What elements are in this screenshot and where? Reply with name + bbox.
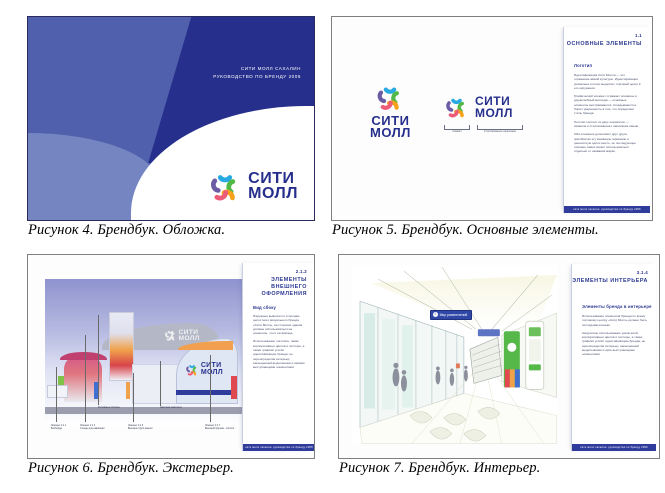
caliper-wordmark-label: Стилизованное написание xyxy=(477,130,523,133)
billboard-left xyxy=(47,385,68,399)
body-paragraph: Использование элементов бренда по всему … xyxy=(582,314,647,327)
citymall-star-icon xyxy=(164,329,177,342)
callout-leader xyxy=(85,335,86,422)
figure-4-image: СИТИ МОЛЛ САХАЛИН РУКОВОДСТВО ПО БРЕНДУ … xyxy=(27,16,315,221)
page-subtitle: Элементы бренда в интерьере xyxy=(582,304,652,309)
callout-line1: Цветовая навигация xyxy=(160,407,182,410)
page-subtitle: Вид сбоку xyxy=(253,305,276,310)
page-body: Наружные вывески по сторонам целостного … xyxy=(253,314,306,374)
page-title: ЭЛЕМЕНТЫ ВНЕШНЕГО ОФОРМЛЕНИЯ xyxy=(243,277,307,298)
pylon-red xyxy=(231,376,236,399)
cover-title-line2: РУКОВОДСТВО ПО БРЕНДУ 2006 xyxy=(213,73,301,81)
arch-base-band xyxy=(176,390,235,394)
cover-title-line1: СИТИ МОЛЛ САХАЛИН xyxy=(213,65,301,73)
roof-sign-lockup: СИТИ МОЛЛ xyxy=(164,329,200,342)
page-footer: сити молл сахалин. руководство по бренду… xyxy=(564,206,650,213)
pylon-orange xyxy=(126,382,130,400)
figure-4-caption: Рисунок 4. Брендбук. Обложка. xyxy=(28,222,225,239)
body-paragraph: Наружные вывески по сторонам целостного … xyxy=(253,314,306,335)
cover-wordmark: СИТИ МОЛЛ xyxy=(248,172,298,201)
brandbook-right-page: 3.1.4 ЭЛЕМЕНТЫ ИНТЕРЬЕРА Элементы бренда… xyxy=(571,264,656,451)
citymall-star-icon xyxy=(375,83,405,113)
body-paragraph: Оба элемента дополняют друг друга, приоб… xyxy=(574,132,641,153)
citymall-star-icon xyxy=(208,170,242,204)
callout-line2: Стенды для навигации xyxy=(80,428,104,431)
arch-wordmark-line2: МОЛЛ xyxy=(201,370,223,376)
arch-sign-lockup: СИТИ МОЛЛ xyxy=(185,363,223,377)
page-title-line1: ЭЛЕМЕНТЫ ВНЕШНЕГО xyxy=(243,277,307,291)
callout-label: Элемент 2.1.1 Билборды xyxy=(51,425,66,431)
callout-leader xyxy=(133,373,134,422)
interior-perspective-sketch xyxy=(352,265,557,444)
callout-label: Элемент 2.1.4 Стенды для навигации xyxy=(80,425,104,431)
logo-variant-horizontal: СИТИ МОЛЛ xyxy=(444,95,513,120)
figure-7-image: i Мир развлечений 3.1.4 ЭЛЕМЕНТЫ ИНТЕРЬЕ… xyxy=(338,254,660,459)
roof-wordmark: СИТИ МОЛЛ xyxy=(179,330,200,342)
citymall-star-icon xyxy=(444,95,469,120)
callout-line2: Внешний признак - логотип xyxy=(205,428,234,431)
callout-line2: Билборды xyxy=(51,428,66,431)
arch-wordmark: СИТИ МОЛЛ xyxy=(201,363,223,376)
wordmark-line2: МОЛЛ xyxy=(370,127,411,139)
callout-leader xyxy=(160,361,161,406)
callout-label: Рекламные порталы xyxy=(98,407,120,410)
body-paragraph: Графический элемент отражает основное и … xyxy=(574,94,641,115)
glass-tower xyxy=(109,312,134,381)
body-paragraph: Использование логотипа, также корпоратив… xyxy=(253,339,306,369)
page-footer: сити молл сахалин. руководство по бренду… xyxy=(243,444,315,451)
page-number: 1.1 xyxy=(635,33,642,38)
brandbook-cover: СИТИ МОЛЛ САХАЛИН РУКОВОДСТВО ПО БРЕНДУ … xyxy=(28,17,314,220)
caliper-symbol: Символ xyxy=(444,125,470,135)
wordmark-line2: МОЛЛ xyxy=(475,108,513,119)
callout-label: Элемент 2.1.7. Внешний признак - логотип xyxy=(205,425,234,431)
brandbook-right-page: 2.1.2 ЭЛЕМЕНТЫ ВНЕШНЕГО ОФОРМЛЕНИЯ Вид с… xyxy=(242,263,315,451)
figure-7-caption: Рисунок 7. Брендбук. Интерьер. xyxy=(339,460,540,477)
page-body: Использование элементов бренда по всему … xyxy=(582,314,647,361)
ground-strip xyxy=(45,407,257,414)
page-number: 3.1.4 xyxy=(637,270,648,275)
caliper-symbol-label: Символ xyxy=(444,130,470,133)
callout-label: Цветовая навигация xyxy=(160,407,182,410)
roof-wordmark-line2: МОЛЛ xyxy=(179,336,200,342)
cover-logo-lockup: СИТИ МОЛЛ xyxy=(208,170,298,204)
callout-line1: Рекламные порталы xyxy=(98,407,120,410)
page-subtitle: Логотип xyxy=(574,63,592,68)
body-paragraph: Идентификация Сити Молла — это отражение… xyxy=(574,73,641,90)
callout-line2: Внешние групп-панели xyxy=(128,428,153,431)
callout-leader xyxy=(56,367,57,422)
callout-leader xyxy=(98,315,99,405)
page-title: ОСНОВНЫЕ ЭЛЕМЕНТЫ xyxy=(567,41,642,48)
page-title-line2: ОФОРМЛЕНИЯ xyxy=(243,291,307,298)
page-footer: сити молл сахалин. руководство по бренду… xyxy=(572,444,656,451)
logo-wordmark: СИТИ МОЛЛ xyxy=(370,115,411,139)
page-title: ЭЛЕМЕНТЫ ИНТЕРЬЕРА xyxy=(572,278,648,285)
exterior-rendering: СИТИ МОЛЛ xyxy=(45,279,257,425)
brandbook-right-page: 1.1 ОСНОВНЫЕ ЭЛЕМЕНТЫ Логотип Идентифика… xyxy=(563,27,650,213)
figure-5-caption: Рисунок 5. Брендбук. Основные элементы. xyxy=(332,222,599,239)
figure-5-image: СИТИ МОЛЛ СИТИ МОЛЛ Символ Ст xyxy=(331,16,653,221)
page-number: 2.1.2 xyxy=(296,269,307,274)
callout-label: Элемент 2.1.6 Внешние групп-панели xyxy=(128,425,153,431)
cover-wordmark-line2: МОЛЛ xyxy=(248,187,298,202)
wayfinding-sign-label: Мир развлечений xyxy=(440,313,468,317)
wayfinding-sign: i Мир развлечений xyxy=(430,310,473,320)
logo-wordmark: СИТИ МОЛЛ xyxy=(475,96,513,118)
info-icon: i xyxy=(433,312,438,317)
body-paragraph: Логотип состоит из двух элементов — симв… xyxy=(574,120,641,129)
logo-variant-vertical: СИТИ МОЛЛ xyxy=(370,83,411,139)
cover-titles: СИТИ МОЛЛ САХАЛИН РУКОВОДСТВО ПО БРЕНДУ … xyxy=(213,65,301,81)
figure-6-image: СИТИ МОЛЛ xyxy=(27,254,315,459)
body-paragraph: Аккуратное использование указателей, кор… xyxy=(582,331,647,357)
citymall-star-icon xyxy=(185,363,199,377)
figure-6-caption: Рисунок 6. Брендбук. Экстерьер. xyxy=(28,460,234,477)
callout-leader xyxy=(210,355,211,422)
central-block xyxy=(132,364,181,404)
interior-rendering: i Мир развлечений xyxy=(352,265,557,444)
caliper-wordmark: Стилизованное написание xyxy=(477,125,523,135)
page-body: Идентификация Сити Молла — это отражение… xyxy=(574,73,641,158)
tower-rotunda-rim xyxy=(60,352,107,359)
